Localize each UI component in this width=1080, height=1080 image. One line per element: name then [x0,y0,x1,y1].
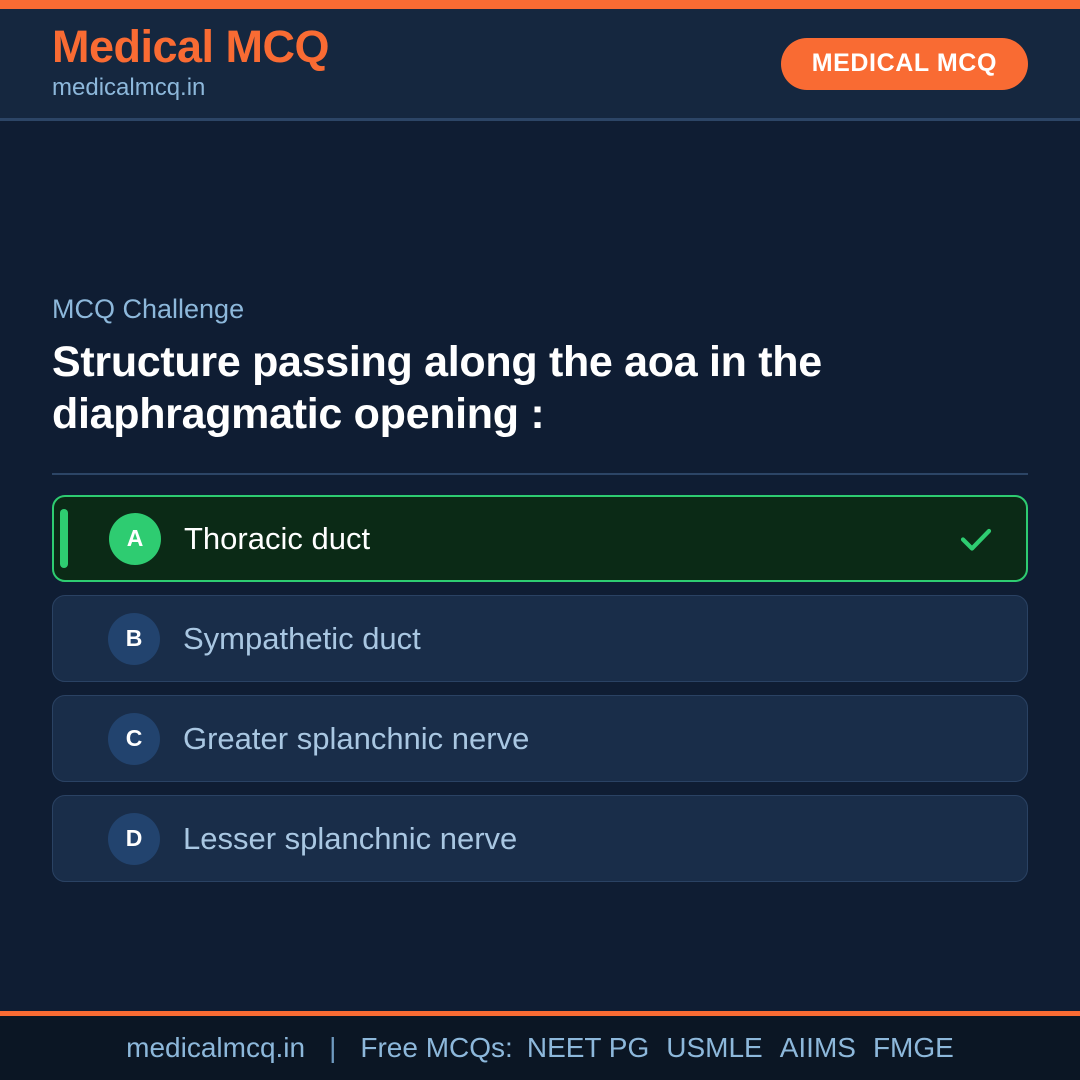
brand-title: Medical MCQ [52,23,329,70]
option-b[interactable]: B Sympathetic duct [52,595,1028,682]
footer-exam-usmle: USMLE [666,1032,762,1064]
option-d-badge: D [108,813,160,865]
footer-text: medicalmcq.in | Free MCQs: NEET PG USMLE… [126,1032,954,1064]
option-c-badge: C [108,713,160,765]
footer-exam-neetpg: NEET PG [527,1032,649,1064]
question-kicker: MCQ Challenge [52,293,1028,325]
question-text: Structure passing along the aoa in the d… [52,336,1012,440]
header-badge: MEDICAL MCQ [781,38,1028,90]
option-b-label: Sympathetic duct [183,622,421,656]
footer: medicalmcq.in | Free MCQs: NEET PG USMLE… [0,1011,1080,1080]
footer-separator: | [329,1032,336,1064]
option-a-badge: A [109,513,161,565]
footer-site: medicalmcq.in [126,1032,305,1064]
brand-subtitle: medicalmcq.in [52,72,329,104]
main-content: MCQ Challenge Structure passing along th… [0,121,1080,1011]
footer-label: Free MCQs: [360,1032,512,1064]
brand-block: Medical MCQ medicalmcq.in [52,23,329,105]
option-d[interactable]: D Lesser splanchnic nerve [52,795,1028,882]
footer-exam-aiims: AIIMS [780,1032,856,1064]
mcq-card: Medical MCQ medicalmcq.in MEDICAL MCQ MC… [0,0,1080,1080]
option-c[interactable]: C Greater splanchnic nerve [52,695,1028,782]
option-d-label: Lesser splanchnic nerve [183,822,517,856]
option-a-label: Thoracic duct [184,522,370,556]
option-a[interactable]: A Thoracic duct [52,495,1028,582]
header: Medical MCQ medicalmcq.in MEDICAL MCQ [0,9,1080,121]
option-c-label: Greater splanchnic nerve [183,722,529,756]
footer-exam-fmge: FMGE [873,1032,954,1064]
question-divider [52,473,1028,475]
top-accent-bar [0,0,1080,9]
option-b-badge: B [108,613,160,665]
options-list: A Thoracic duct B Sympathetic duct C Gre… [52,495,1028,882]
check-icon [956,519,996,559]
question-block: MCQ Challenge Structure passing along th… [52,293,1028,475]
